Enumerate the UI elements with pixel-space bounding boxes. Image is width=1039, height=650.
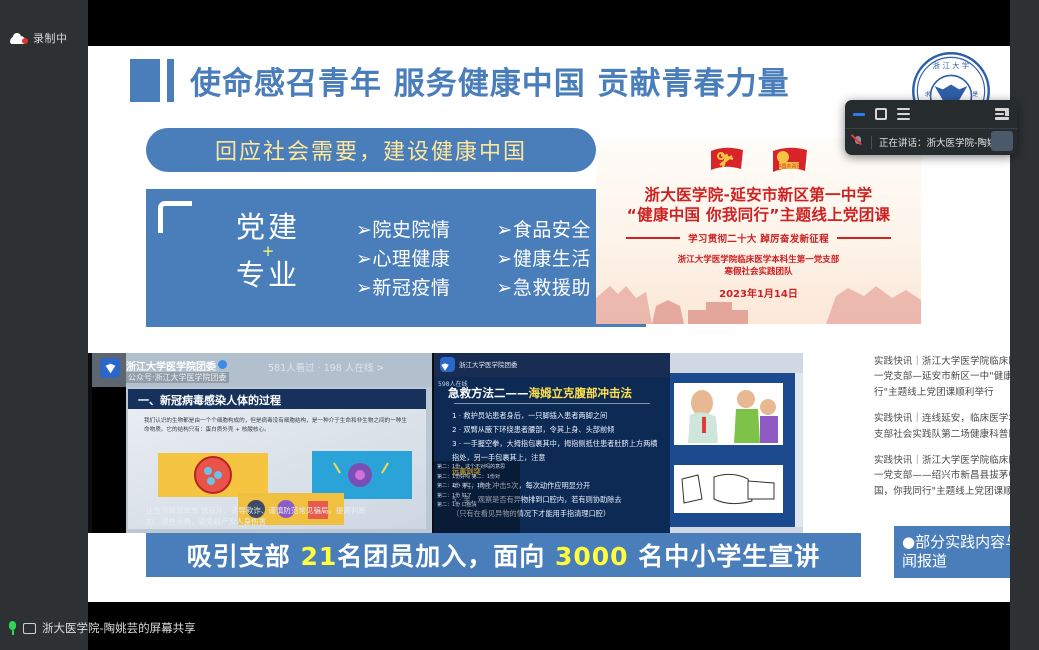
banner-number-members: 21: [300, 542, 337, 571]
minimize-icon[interactable]: [853, 113, 865, 116]
collage-screenshot-right: [670, 353, 803, 533]
corner-bracket-icon: [158, 201, 192, 233]
chat-message: 第二：1份 第二：1份的: [437, 482, 517, 492]
subtitle-pill: 回应社会需要，建设健康中国: [146, 128, 596, 172]
inner-slide-sidebar: [795, 373, 803, 527]
svg-text:浙 江 大 学: 浙 江 大 学: [933, 61, 970, 70]
slide-top-letterbox: [88, 0, 1010, 46]
inner-slide-body: 我们认识的生物都是由一个个细胞构成的，但是病毒没有细胞结构，是一种介于生命和非生…: [128, 409, 426, 529]
zoom-floating-video-panel[interactable]: 正在讲话：浙大医学院-陶姚芸: [845, 100, 1017, 155]
panel-key-plus: +: [208, 244, 328, 259]
microphone-icon: [8, 621, 17, 635]
participant-video-thumbnail[interactable]: [991, 131, 1013, 151]
mic-muted-icon[interactable]: [853, 135, 864, 149]
poster-subtitle-row: 学习贯彻二十大 踔厉奋发新征程: [596, 231, 921, 245]
chat-message: 第二：1份，这个不对吗的意思: [437, 463, 517, 473]
zoom-right-rail: [1010, 0, 1039, 650]
poster-rule-left: [626, 237, 680, 239]
active-speaker-label: 正在讲话：浙大医学院-陶姚芸: [879, 135, 1006, 149]
cell-diagram-image: [158, 453, 268, 497]
news-report-list: 实践快讯｜浙江大学医学院临床医学本科生第一党支部—延安市新区一中"健康中国，你我…: [874, 354, 1010, 510]
recording-label: 录制中: [33, 30, 68, 46]
zoom-left-rail: [0, 0, 88, 650]
screen-share-status-bar: 浙大医学院-陶姚芸的屏幕共享: [8, 620, 196, 636]
screen-share-label: 浙大医学院-陶姚芸的屏幕共享: [42, 620, 196, 636]
wechat-channel-header-middle: 浙江大学医学院团委: [434, 353, 670, 377]
panel-key-labels: 党建 + 专业: [208, 211, 328, 293]
fist-grip-illustration-image: [674, 465, 783, 513]
slide-bottom-letterbox: [88, 602, 1010, 650]
event-poster-image: 中国共青团 浙大医学院-延安市新区第一中学 “健康中国 你我同行”主题线上党团课…: [596, 139, 921, 324]
layout-toggle-icon[interactable]: [995, 108, 1009, 120]
heading-part-white: 急救方法二——: [448, 386, 529, 400]
virus-diagram-image: [312, 451, 412, 499]
screen-share-icon: [23, 623, 36, 634]
page-title: 使命感召青年 服务健康中国 贡献青春力量: [190, 58, 790, 103]
title-block-small-icon: [167, 59, 174, 102]
heading-part-yellow: 海姆立克腹部冲击法: [529, 386, 633, 400]
inner-slide-heading: 一、新冠病毒感染人体的过程: [138, 392, 281, 408]
video-panel-toolbar: [845, 100, 1017, 128]
bullet-item: ➢急救援助: [496, 273, 590, 300]
bullet-item: ➢新冠疫情: [356, 273, 450, 300]
inner-slide-caption: 让生活简简单单 慎盲从、诱导欺诈、谨慎防范常见骗局，提高判断力、理性消费，避免财…: [146, 505, 366, 528]
poster-org-line1: 浙江大学医学院临床医学本科生第一党支部: [596, 253, 921, 265]
svg-text:求: 求: [925, 90, 931, 98]
content-panel: 党建 + 专业 ➢院史院情 ➢心理健康 ➢新冠疫情 ➢食品安全 ➢健康生活 ➢急…: [146, 189, 646, 327]
inner-slide-heading: 急救方法二——海姆立克腹部冲击法: [448, 385, 662, 401]
zoom-screen-share-window: 录制中 浙大医学院-陶姚芸的屏幕共享 使命感召青年 服务健康中国 贡献青春力量 …: [0, 0, 1039, 650]
banner-middle: 名团员加入，面向: [337, 542, 555, 571]
subtitle-pill-text: 回应社会需要，建设健康中国: [215, 134, 527, 166]
news-item: 实践快讯｜连线延安，临床医学本科生第一党支部社会实践队第二场健康科普顺利进行: [874, 411, 1010, 442]
step-item: 1 · 救护员站患者身后，一只脚插入患者两脚之间: [452, 409, 664, 423]
collage-screenshot-middle: 浙江大学医学院团委 598人在线 急救方法二——海姆立克腹部冲击法 1 · 救护…: [434, 353, 670, 533]
summary-banner-text: 吸引支部 21名团员加入，面向 3000 名中小学生宣讲: [187, 537, 821, 573]
news-item: 实践快讯｜浙江大学医学院临床医学本科生第一党支部—延安市新区一中"健康中国，你我…: [874, 354, 1010, 400]
svg-text:是: 是: [972, 91, 978, 98]
poster-subtitle: 学习贯彻二十大 踔厉奋发新征程: [688, 231, 829, 245]
bullet-item: ➢心理健康: [356, 244, 450, 271]
bullet-item: ➢院史院情: [356, 215, 450, 242]
bullet-column-2: ➢食品安全 ➢健康生活 ➢急救援助: [496, 215, 590, 300]
poster-date: 2023年1月14日: [596, 285, 921, 300]
title-block-large-icon: [130, 59, 160, 102]
news-caption-box: ●部分实践内容与 新闻报道: [894, 526, 1010, 578]
channel-avatar: [100, 358, 120, 378]
poster-rule-right: [837, 237, 891, 239]
channel-name: 浙江大学医学院团委: [126, 358, 216, 373]
panel-key-top: 党建: [208, 211, 328, 244]
chat-message: 第二：1份 好了: [437, 492, 517, 502]
inner-slide-frame: [670, 373, 797, 527]
slide-title-row: 使命感召青年 服务健康中国 贡献青春力量: [130, 58, 790, 103]
bullet-item: ➢健康生活: [496, 244, 590, 271]
inner-slide-paragraph: 我们认识的生物都是由一个个细胞构成的，但是病毒没有细胞结构，是一种介于生命和非生…: [144, 417, 412, 434]
news-item: 实践快讯｜浙江大学医学院临床医学本科生第一党支部——绍兴市新昌县拔茅中学"健康中…: [874, 453, 1010, 499]
banner-suffix: 名中小学生宣讲: [629, 542, 821, 571]
communist-youth-league-icon: 中国共青团: [769, 145, 811, 179]
bullet-item: ➢食品安全: [496, 215, 590, 242]
panel-bullet-columns: ➢院史院情 ➢心理健康 ➢新冠疫情 ➢食品安全 ➢健康生活 ➢急救援助: [356, 215, 591, 300]
svg-text:中国共青团: 中国共青团: [776, 163, 801, 170]
chat-message: 第二：1份 口腔清: [437, 501, 517, 511]
poster-title-line1: 浙大医学院-延安市新区第一中学: [596, 183, 921, 205]
viewer-count: 581人看过 · 198 人在线 >: [268, 360, 384, 374]
channel-subtitle: 公众号·浙江大学医学院团委: [126, 372, 229, 383]
banner-number-students: 3000: [555, 542, 629, 571]
cpc-flag-icon: [707, 145, 747, 177]
recording-badge: 录制中: [10, 30, 68, 46]
summary-banner: 吸引支部 21名团员加入，面向 3000 名中小学生宣讲: [146, 533, 861, 577]
panel-key-bottom: 专业: [208, 259, 328, 292]
poster-title-line2: “健康中国 你我同行”主题线上党团课: [596, 203, 921, 225]
maximize-icon[interactable]: [875, 108, 887, 120]
divider: [871, 136, 872, 149]
bullet-column-1: ➢院史院情 ➢心理健康 ➢新冠疫情: [356, 215, 450, 300]
channel-avatar: [440, 357, 455, 372]
menu-icon[interactable]: [897, 108, 910, 120]
news-caption-text: ●部分实践内容与 新闻报道: [902, 533, 1010, 571]
wechat-channel-header: 浙江大学医学院团委 公众号·浙江大学医学院团委 581人看过 · 198 人在线…: [92, 353, 432, 387]
chat-message: 第二：1份好吗 第二：1份对: [437, 473, 517, 483]
heading-underline: [454, 403, 650, 404]
poster-org-line2: 寒假社会实践团队: [596, 265, 921, 277]
heimlich-illustration-image: [674, 383, 783, 445]
screenshot-collage: 浙江大学医学院团委 公众号·浙江大学医学院团委 581人看过 · 198 人在线…: [88, 353, 803, 533]
channel-name: 浙江大学医学院团委: [459, 359, 518, 369]
step-item: 2 · 双臂从腋下环绕患者腰部，令其上身、头部前倾: [452, 423, 664, 437]
inner-slide-heading-bar: 一、新冠病毒感染人体的过程: [128, 389, 426, 409]
verified-badge-icon: [218, 360, 227, 369]
collage-screenshot-left: 浙江大学医学院团委 公众号·浙江大学医学院团委 581人看过 · 198 人在线…: [92, 353, 432, 533]
banner-prefix: 吸引支部: [187, 542, 301, 571]
cloud-recording-icon: [10, 33, 28, 44]
live-chat-overlay: 第二：1份，这个不对吗的意思 第二：1份好吗 第二：1份对 第二：1份 第二：1…: [434, 461, 520, 533]
